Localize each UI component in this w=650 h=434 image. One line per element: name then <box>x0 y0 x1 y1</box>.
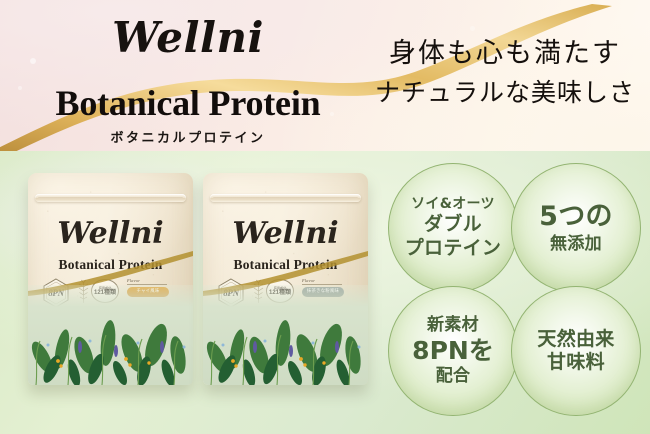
leaf-icon <box>28 285 193 385</box>
tagline-block: 身体も心も満たす ナチュラルな美味しさ <box>372 36 638 110</box>
package-brand-script: Wellni <box>203 217 368 251</box>
banner-body: Wellni Botanical Protein 8PN 新素材8PN配合 <box>0 151 650 434</box>
banner-header: Wellni Botanical Protein ボタニカルプロテイン 身体も心… <box>0 0 650 151</box>
feature-circle-additive-free[interactable]: 5つの 無添加 <box>511 163 641 293</box>
feature-line-2: ダブル <box>405 213 502 236</box>
tagline-line-1: 身体も心も満たす <box>372 36 638 72</box>
zipper-seal <box>35 194 186 202</box>
feature-line-1: 新素材 <box>412 315 494 336</box>
product-banner: Wellni Botanical Protein ボタニカルプロテイン 身体も心… <box>0 0 650 434</box>
brand-logo-script: Wellni <box>18 14 358 62</box>
botanical-illustration <box>28 285 193 385</box>
tagline-line-2: ナチュラルな美味しさ <box>372 76 638 110</box>
product-package-1[interactable]: Wellni Botanical Protein 8PN 新素材8PN配合 <box>28 173 193 385</box>
feature-line-2: 甘味料 <box>537 351 614 374</box>
feature-line-1: 天然由来 <box>537 328 614 351</box>
leaf-icon <box>203 285 368 385</box>
feature-line-1: 5つの <box>539 201 613 234</box>
feature-circle-natural-sweetener[interactable]: 天然由来 甘味料 <box>511 286 641 416</box>
feature-circle-double-protein[interactable]: ソイ&オーツ ダブル プロテイン <box>388 163 518 293</box>
feature-line-3: プロテイン <box>405 237 502 260</box>
package-brand-script: Wellni <box>28 217 193 251</box>
botanical-illustration <box>203 285 368 385</box>
brand-subtitle-kana: ボタニカルプロテイン <box>18 127 358 146</box>
feature-line-3: 配合 <box>412 366 494 387</box>
page-title: Botanical Protein <box>18 82 358 124</box>
zipper-seal <box>210 194 361 202</box>
feature-line-2: 無添加 <box>539 234 613 255</box>
feature-circles: ソイ&オーツ ダブル プロテイン 5つの 無添加 新素材 8PNを 配合 <box>388 163 644 425</box>
feature-circle-8pn[interactable]: 新素材 8PNを 配合 <box>388 286 518 416</box>
product-package-2[interactable]: Wellni Botanical Protein 8PN 新素材8PN配合 <box>203 173 368 385</box>
brand-block: Wellni Botanical Protein ボタニカルプロテイン <box>18 14 358 146</box>
feature-line-2: 8PNを <box>412 336 494 365</box>
feature-line-1: ソイ&オーツ <box>405 196 502 213</box>
